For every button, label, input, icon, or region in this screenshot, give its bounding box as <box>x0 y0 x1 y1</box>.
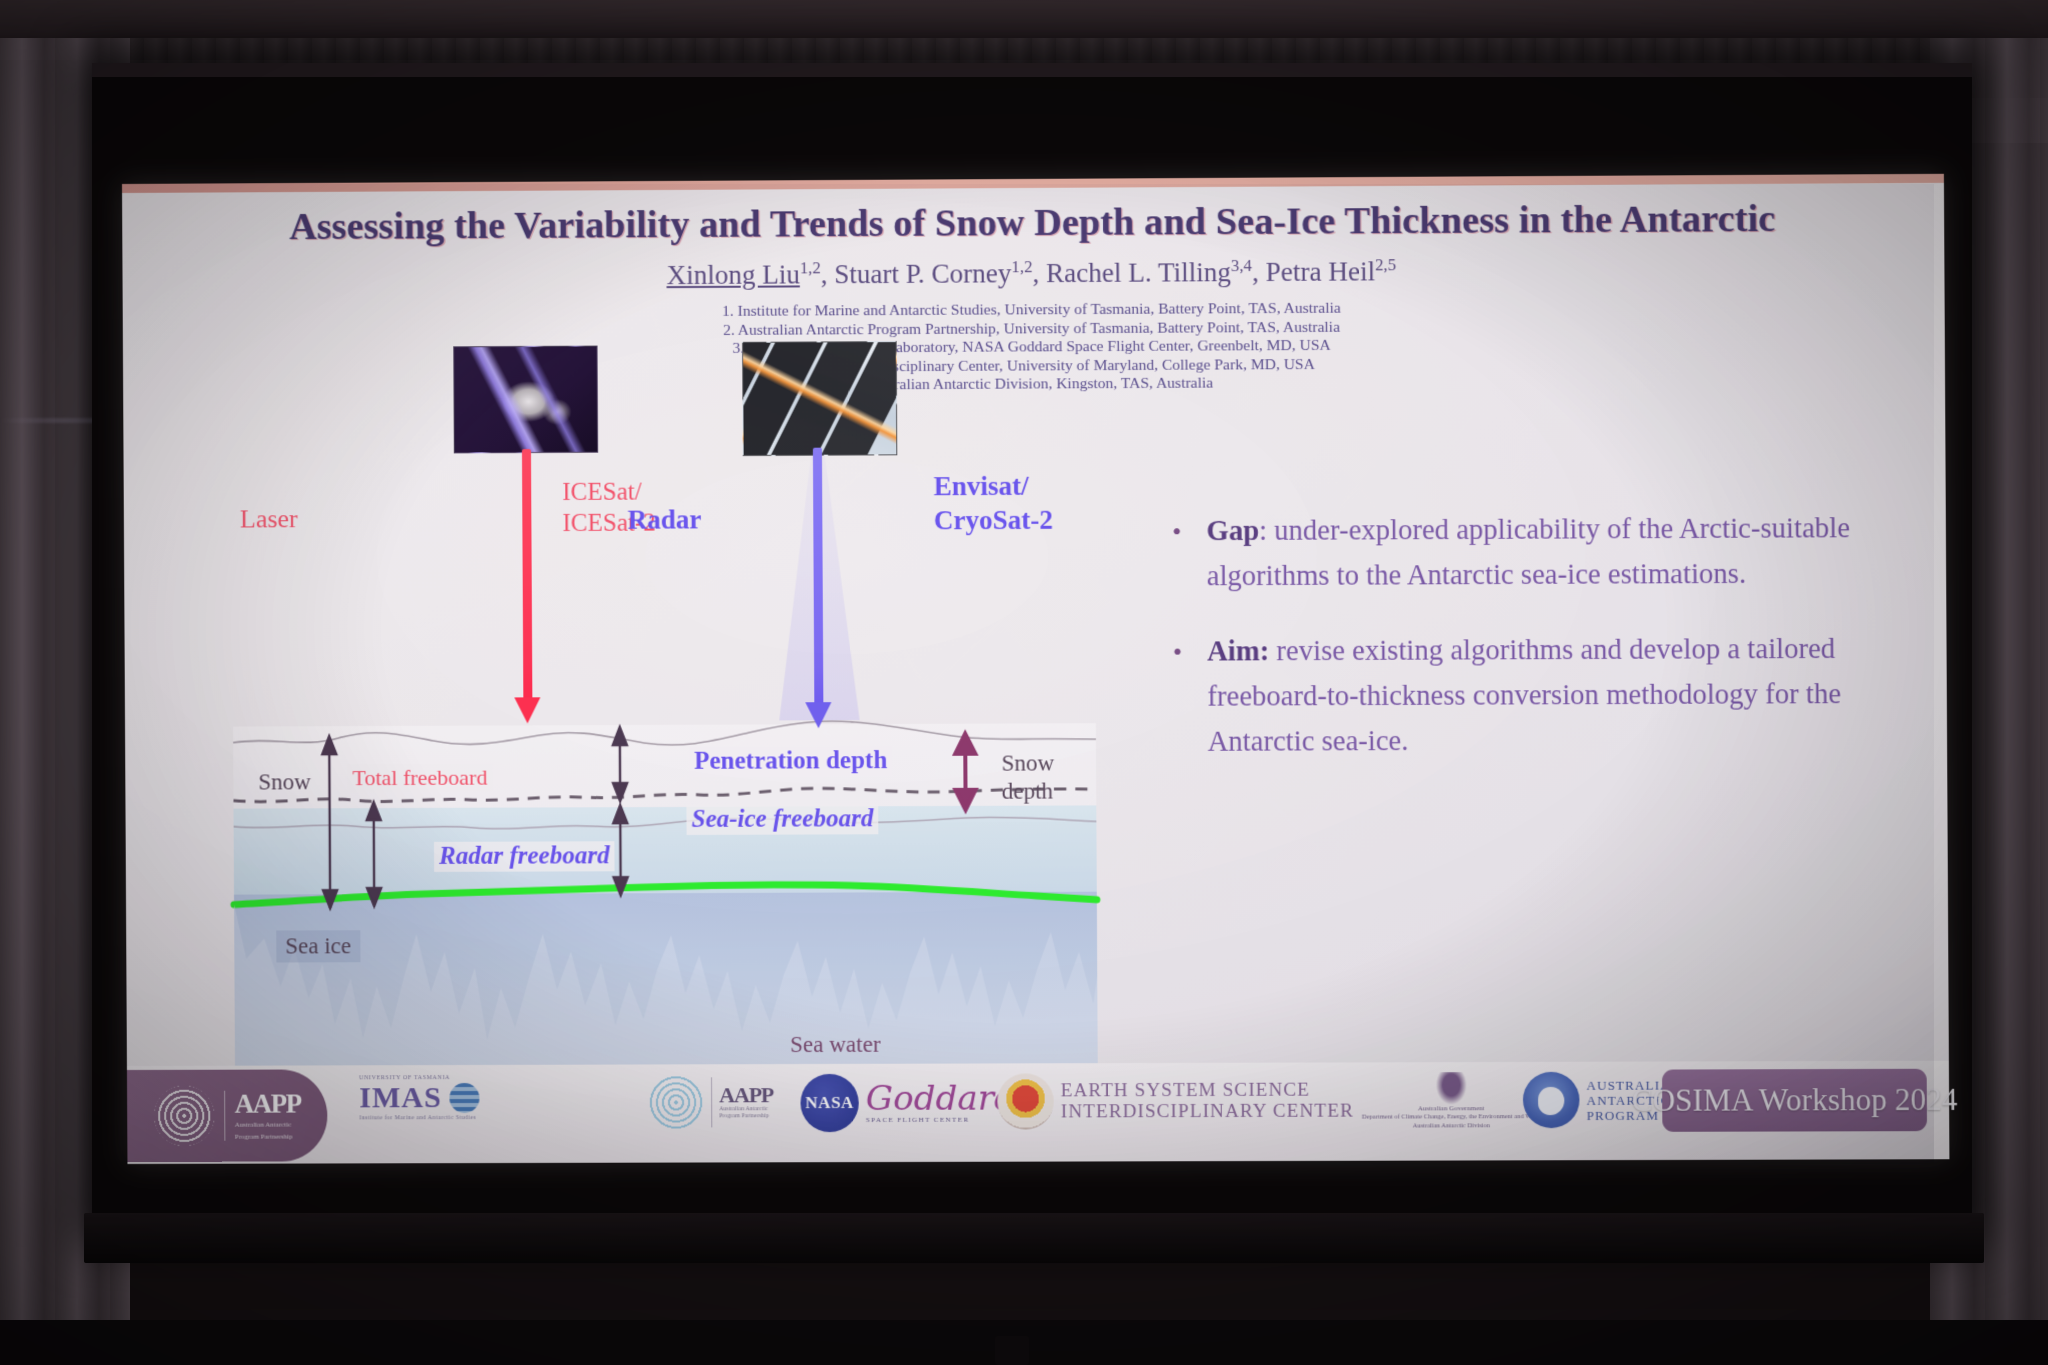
aapp-swirl-icon <box>154 1086 214 1146</box>
envisat-mission-label: Envisat/ CryoSat-2 <box>934 469 1053 538</box>
aapp-sub1: Australian Antarctic <box>235 1121 301 1130</box>
commonwealth-crest-icon <box>1436 1072 1466 1104</box>
gov-line2: Department of Climate Change, Energy, th… <box>1362 1112 1541 1122</box>
envisat-label-line2: CryoSat-2 <box>934 503 1053 538</box>
aapp2-sub1: Australian Antarctic <box>719 1106 773 1114</box>
stage-object <box>995 1336 1029 1365</box>
bullet-body: : under-explored applicability of the Ar… <box>1207 513 1850 592</box>
aapp2-wordmark: AAPP Australian Antarctic Program Partne… <box>719 1084 773 1121</box>
bullet-body: revise existing algorithms and develop a… <box>1207 634 1841 758</box>
divider <box>224 1091 225 1141</box>
bullet-text: Aim: revise existing algorithms and deve… <box>1207 627 1879 765</box>
snow-depth-line1: Snow <box>1001 749 1054 777</box>
gov-line3: Australian Antarctic Division <box>1362 1121 1541 1131</box>
page-title: Assessing the Variability and Trends of … <box>152 196 1914 250</box>
umd-seal-icon <box>997 1073 1054 1129</box>
laser-label: Laser <box>240 504 298 534</box>
radar-freeboard-label: Radar freeboard <box>434 841 615 872</box>
logo-aapp-secondary: AAPP Australian Antarctic Program Partne… <box>648 1074 774 1130</box>
logo-nasa-goddard: NASA Goddard SPACE FLIGHT CENTER <box>800 1073 1016 1132</box>
list-item: • Gap: under-explored applicability of t… <box>1172 506 1878 600</box>
sea-ice-layer-label: Sea ice <box>276 930 360 962</box>
icesat-label-line1: ICESat/ <box>562 477 655 508</box>
antarctic-globe-icon <box>1523 1072 1580 1128</box>
snow-layer-label: Snow <box>249 766 320 798</box>
aapp-wordmark: AAPP Australian Antarctic Program Partne… <box>235 1091 301 1141</box>
imas-sub-text: Institute for Marine and Antarctic Studi… <box>359 1115 480 1121</box>
logo-essic: EARTH SYSTEM SCIENCE INTERDISCIPLINARY C… <box>997 1072 1354 1129</box>
aapp2-sub2: Program Partnership <box>719 1113 773 1121</box>
bullet-lead: Aim: <box>1207 636 1269 667</box>
envisat-label-line1: Envisat/ <box>934 469 1053 504</box>
imas-stripe-icon <box>450 1083 480 1113</box>
sea-ice-freeboard-label: Sea-ice freeboard <box>686 804 878 835</box>
logo-aapp-primary: AAPP Australian Antarctic Program Partne… <box>127 1069 328 1162</box>
bullet-text: Gap: under-explored applicability of the… <box>1206 506 1878 599</box>
radar-label: Radar <box>628 504 702 535</box>
penetration-depth-label: Penetration depth <box>689 746 892 777</box>
measurement-arrows <box>322 727 628 908</box>
snow-depth-line2: depth <box>1002 777 1055 805</box>
imas-wordmark: UNIVERSITY OF TASMANIA IMAS Institute fo… <box>359 1075 480 1121</box>
bullet-lead: Gap <box>1206 516 1259 547</box>
diagram-vector-layer <box>231 334 1138 1129</box>
author-list: Xinlong Liu1,2, Stuart P. Corney1,2, Rac… <box>152 252 1914 293</box>
essic-wordmark: EARTH SYSTEM SCIENCE INTERDISCIPLINARY C… <box>1061 1079 1354 1122</box>
screen-bottom-rail <box>84 1213 1984 1263</box>
sea-ice-freeboard-diagram: Laser ICESat/ ICESat-2 Radar Envisat/ Cr… <box>231 334 1138 1129</box>
sea-level-line <box>234 884 1097 905</box>
divider <box>711 1077 712 1127</box>
key-points-list: • Gap: under-explored applicability of t… <box>1172 506 1880 795</box>
cryosat-satellite-image <box>742 341 897 456</box>
logo-imas: UNIVERSITY OF TASMANIA IMAS Institute fo… <box>359 1075 480 1121</box>
goddard-name: Goddard <box>866 1081 1016 1116</box>
presentation-slide: Assessing the Variability and Trends of … <box>122 174 1949 1164</box>
gov-wordmark: Australian Government Department of Clim… <box>1362 1072 1541 1131</box>
total-freeboard-label: Total freeboard <box>347 764 492 793</box>
laser-beam-arrow <box>522 449 532 701</box>
goddard-wordmark: Goddard SPACE FLIGHT CENTER <box>866 1081 1016 1124</box>
essic-line2: INTERDISCIPLINARY CENTER <box>1061 1101 1354 1123</box>
screen-top-rail <box>92 63 1972 77</box>
aapp2-name: AAPP <box>719 1084 773 1106</box>
icesat-satellite-image <box>453 346 598 454</box>
conference-room: Assessing the Variability and Trends of … <box>0 0 2048 1365</box>
bullet-marker: • <box>1173 629 1208 765</box>
cosima-workshop-badge: COSIMA Workshop 2024 <box>1662 1069 1927 1132</box>
aapp-name: AAPP <box>235 1091 301 1118</box>
aapp-swirl-icon <box>648 1074 704 1130</box>
radar-beam-arrow <box>813 448 823 707</box>
nasa-meatball-icon: NASA <box>800 1074 859 1132</box>
imas-name: IMAS <box>359 1081 442 1115</box>
snow-depth-arrow <box>955 734 976 810</box>
aapp-sub2: Program Partnership <box>235 1132 301 1141</box>
ice-top-surface-line <box>234 817 1097 830</box>
essic-line1: EARTH SYSTEM SCIENCE <box>1061 1079 1354 1101</box>
logo-australian-government: Australian Government Department of Clim… <box>1362 1072 1541 1131</box>
sea-water-layer-label: Sea water <box>781 1029 890 1061</box>
snow-depth-label: Snow depth <box>1001 749 1054 805</box>
bullet-marker: • <box>1172 509 1207 599</box>
list-item: • Aim: revise existing algorithms and de… <box>1173 627 1880 765</box>
